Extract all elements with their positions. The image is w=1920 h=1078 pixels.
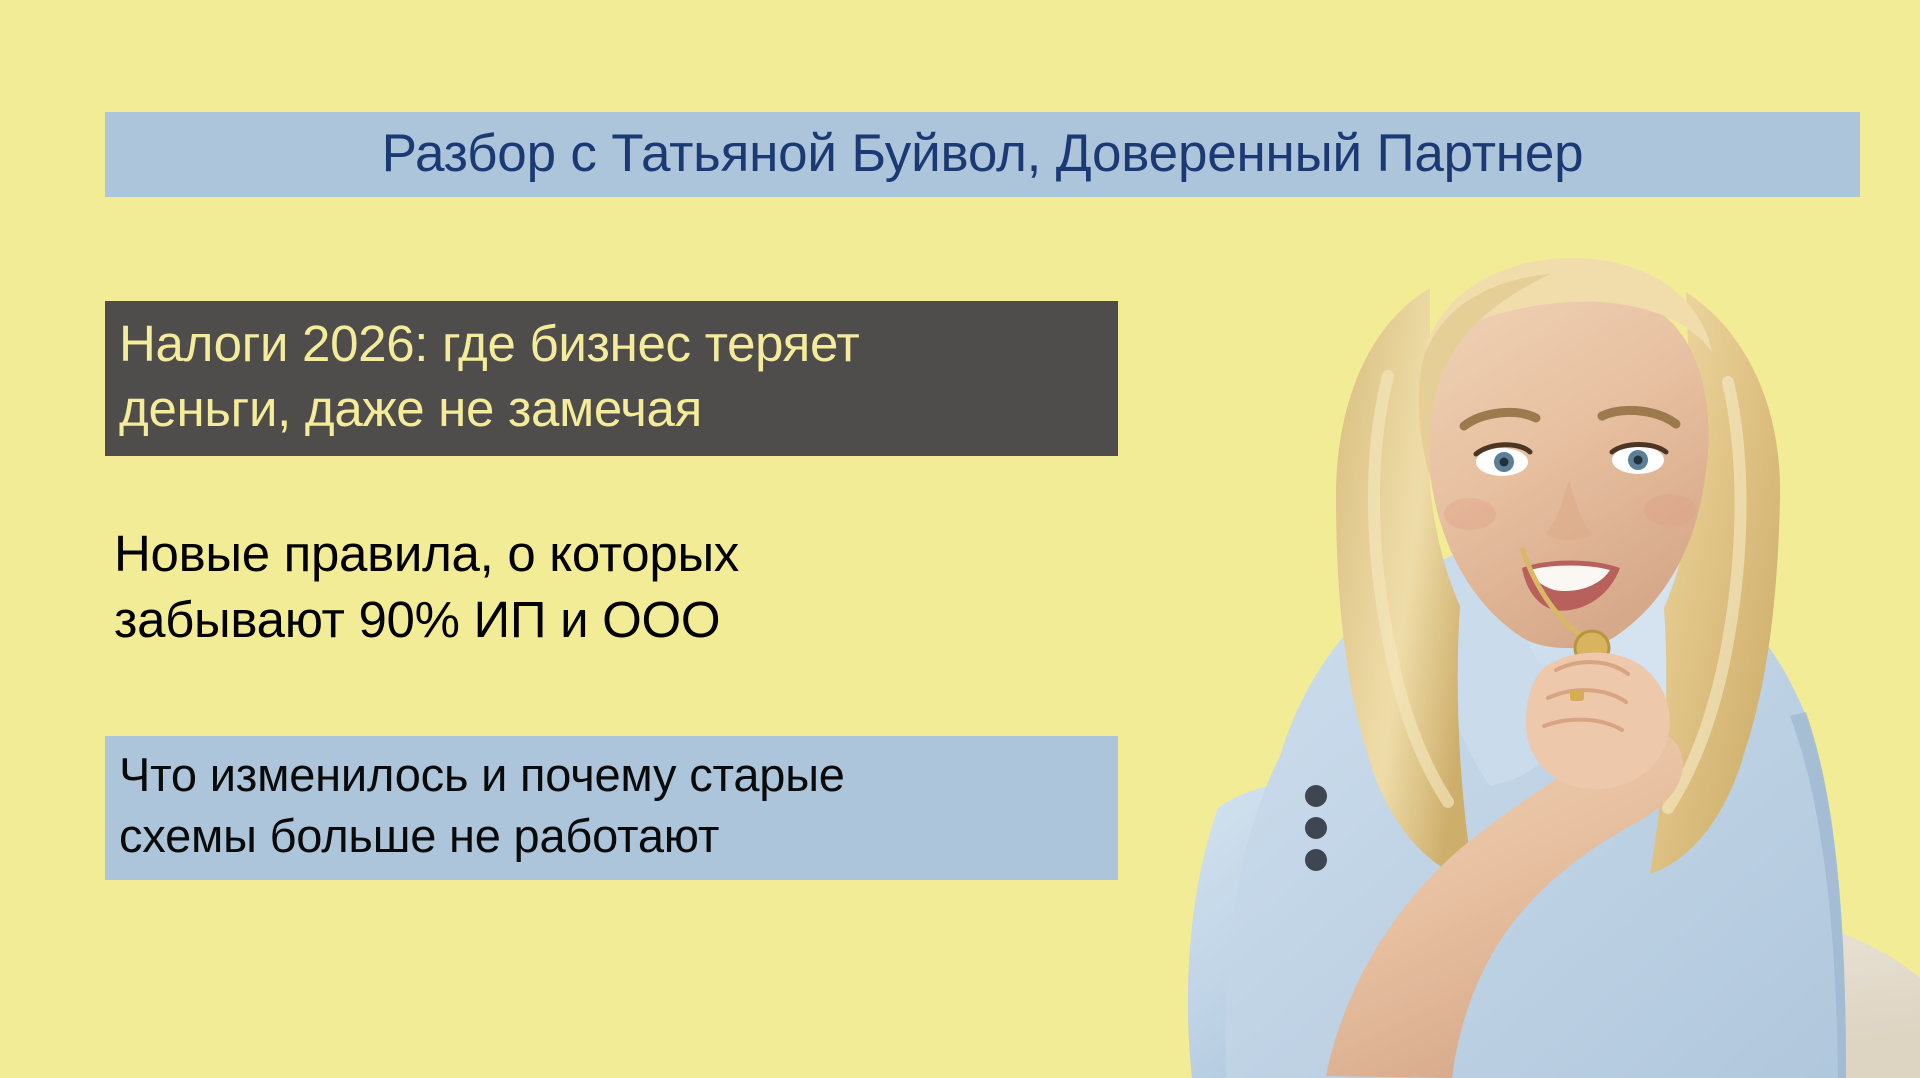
pupil-right [1634, 456, 1643, 465]
subtext-block: Новые правила, о которых забывают 90% ИП… [114, 521, 1014, 653]
ring [1570, 690, 1584, 701]
title-banner: Разбор с Татьяной Буйвол, Доверенный Пар… [105, 112, 1860, 197]
headline-box: Налоги 2026: где бизнес теряет деньги, д… [105, 301, 1118, 456]
subtext: Новые правила, о которых забывают 90% ИП… [114, 521, 1014, 653]
blush-right [1644, 494, 1696, 526]
page-title: Разбор с Татьяной Буйвол, Доверенный Пар… [382, 127, 1584, 181]
pupil-left [1500, 458, 1509, 467]
headline-line-1: Налоги 2026: где бизнес теряет [119, 315, 859, 372]
portrait-photo [1130, 196, 1920, 1078]
sleeve-button-1 [1305, 785, 1327, 807]
note-box: Что изменилось и почему старые схемы бол… [105, 736, 1118, 880]
portrait-illustration [1130, 196, 1920, 1078]
subtext-line-2: забывают 90% ИП и ООО [114, 591, 720, 648]
sleeve-button-3 [1305, 849, 1327, 871]
subtext-line-1: Новые правила, о которых [114, 525, 739, 582]
note-text: Что изменилось и почему старые схемы бол… [119, 745, 1104, 866]
sleeve-button-2 [1305, 817, 1327, 839]
slide-canvas: Разбор с Татьяной Буйвол, Доверенный Пар… [0, 0, 1920, 1078]
blush-left [1444, 498, 1496, 530]
headline-line-2: деньги, даже не замечая [119, 380, 702, 437]
note-line-2: схемы больше не работают [119, 809, 719, 862]
headline-text: Налоги 2026: где бизнес теряет деньги, д… [119, 312, 1104, 442]
note-line-1: Что изменилось и почему старые [119, 748, 845, 801]
